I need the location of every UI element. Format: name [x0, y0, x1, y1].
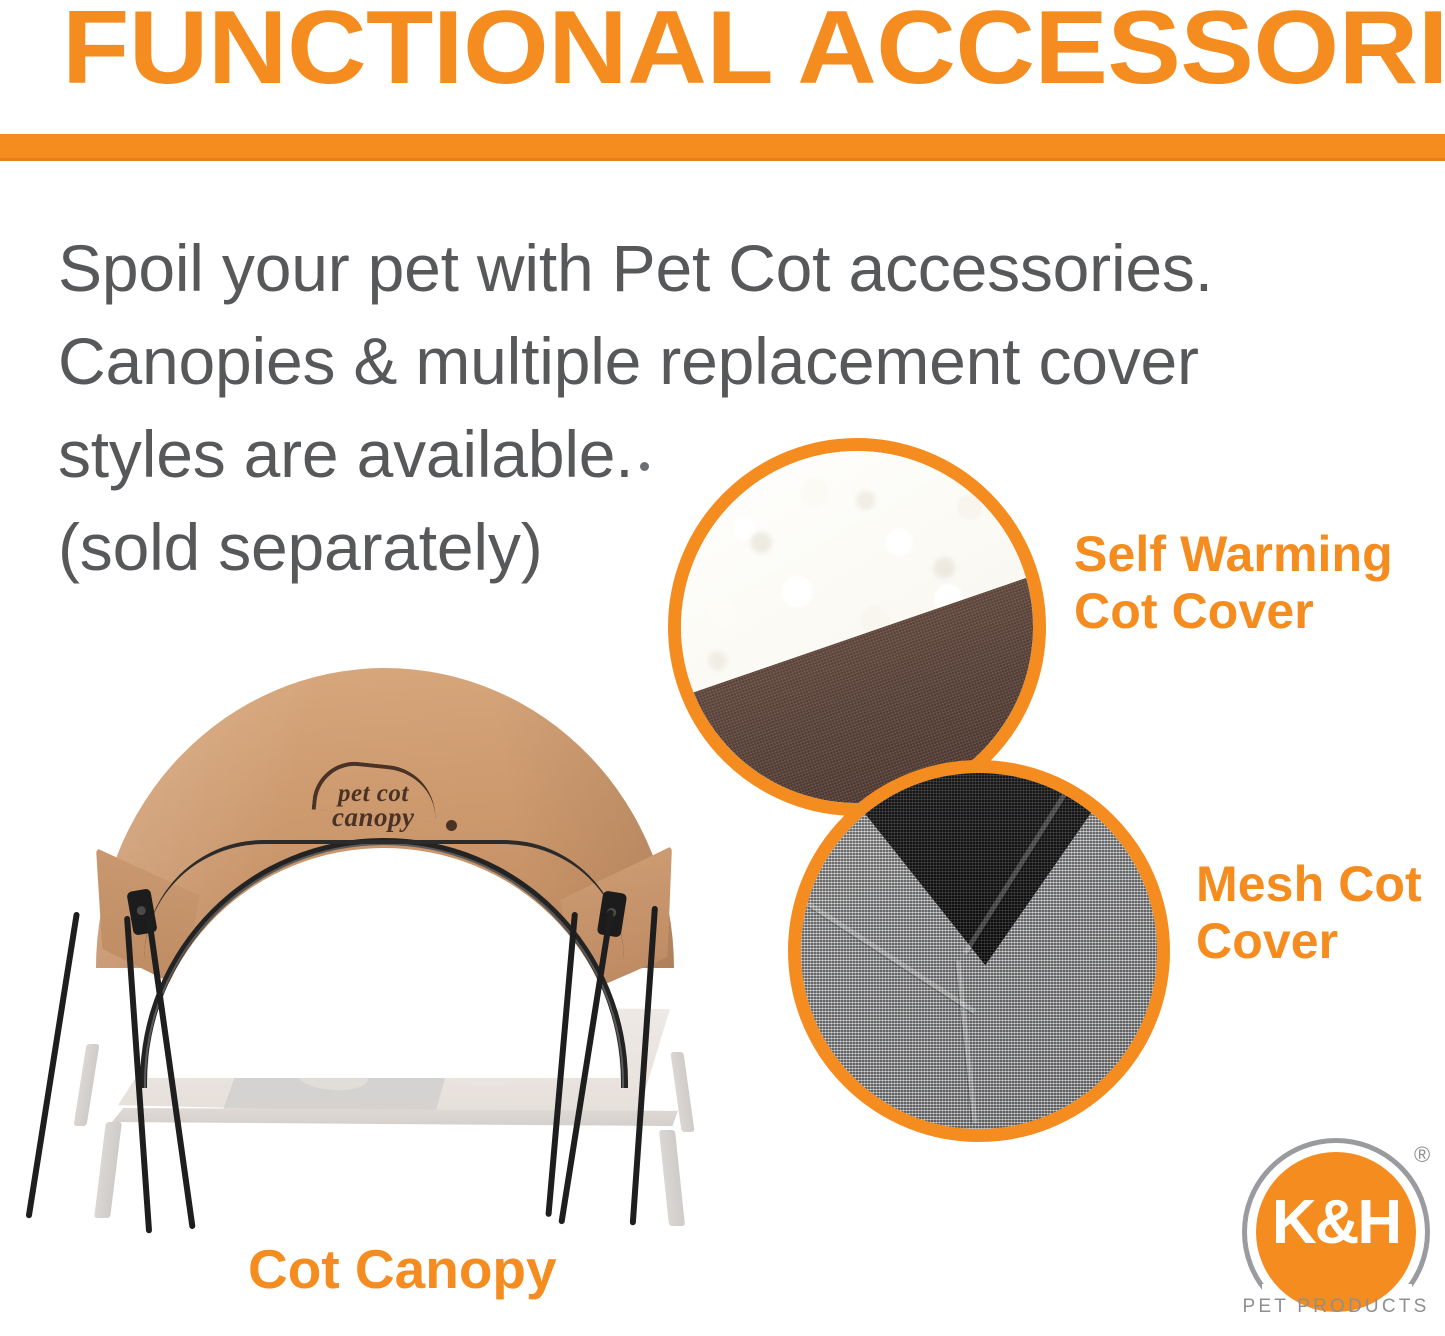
label-line-2: Cover [1196, 913, 1445, 970]
cot-leg [74, 1044, 100, 1126]
registered-mark-icon [446, 820, 457, 831]
cot-leg [94, 1122, 122, 1218]
dot-artifact [640, 462, 649, 471]
page-title: FUNCTIONAL ACCESSORIES [62, 0, 1445, 108]
cot-leg [659, 1130, 685, 1226]
pet-cot-canopy-logo: pet cot canopy [310, 758, 500, 836]
cot-canopy-caption: Cot Canopy [248, 1238, 557, 1300]
header-divider [0, 134, 1445, 161]
mesh-cot-cover-swatch [788, 760, 1170, 1142]
body-copy-line-3: styles are available. [58, 408, 1298, 501]
cot-front-rail [112, 1108, 678, 1126]
mesh-cot-cover-label: Mesh Cot Cover [1196, 856, 1445, 970]
infographic-page: FUNCTIONAL ACCESSORIES Spoil your pet wi… [0, 0, 1445, 1336]
cot-canopy-product-image: pet cot canopy [52, 660, 732, 1240]
label-line-2: Cot Cover [1074, 583, 1444, 640]
self-warming-cot-cover-label: Self Warming Cot Cover [1074, 526, 1444, 640]
body-copy-line-2: Canopies & multiple replacement cover [58, 315, 1298, 408]
label-line-1: Self Warming [1074, 526, 1444, 583]
canopy-edge-piping [144, 840, 624, 960]
logo-wordmark: K&H [1256, 1188, 1416, 1258]
logo-tagline: PET PRODUCTS [1238, 1296, 1434, 1318]
canopy-logo-line-2: canopy [332, 802, 414, 833]
body-copy-line-1: Spoil your pet with Pet Cot accessories. [58, 222, 1298, 315]
label-line-1: Mesh Cot [1196, 856, 1445, 913]
kh-pet-products-logo: K&H ® PET PRODUCTS [1238, 1136, 1438, 1332]
registered-trademark-icon: ® [1414, 1142, 1430, 1168]
